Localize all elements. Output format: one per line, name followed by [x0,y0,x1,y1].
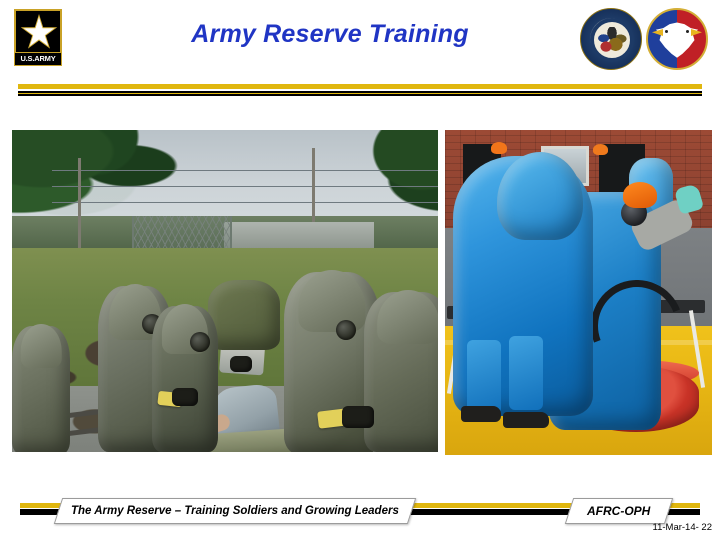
footer-tagline-banner: The Army Reserve – Training Soldiers and… [54,498,416,524]
orange-hard-hat [623,182,657,208]
power-line [52,202,438,203]
footer-organization-banner: AFRC-OPH [565,498,673,524]
eagle-eye-left [665,30,668,33]
mopp-hood [298,270,365,332]
seal-inner-disc [590,18,634,62]
protective-glove [342,406,374,428]
star-icon [23,17,55,49]
photo-hazmat-decontamination [445,130,712,455]
gas-mask-canister [336,320,356,340]
utility-pole [78,158,81,262]
rubber-boot [461,406,501,422]
hazmat-leg [509,336,543,410]
page-title: Army Reserve Training [120,20,540,49]
orange-hard-hat [593,144,608,155]
orange-hard-hat [491,142,507,154]
soldier-mopp-suit [12,326,70,452]
slide-footer: The Army Reserve – Training Soldiers and… [0,495,720,540]
us-army-star-logo: U.S.ARMY [14,9,62,77]
soldier-mopp-suit [364,292,438,452]
header-divider [0,84,720,98]
soldier-mopp-suit [152,306,218,452]
gas-mask-canister [190,332,210,352]
tree-canopy-right [338,130,438,218]
department-of-the-army-seal-icon [580,8,642,70]
footer-organization-text: AFRC-OPH [587,504,650,518]
power-line [52,170,438,171]
hazmat-leg [467,340,501,414]
power-line [52,186,438,187]
army-wordmark: U.S.ARMY [14,52,62,66]
footer-date-slide-number: 11-Mar-14- 22 [653,522,713,533]
soldier-mopp-suit [208,280,280,350]
footer-tagline-text: The Army Reserve – Training Soldiers and… [71,505,399,517]
eagle-eye-right [686,30,689,33]
mopp-hood [377,290,438,344]
mopp-hood [21,324,62,368]
rubber-boot [503,412,549,428]
seal-emblem [597,27,627,55]
photo-mopp-decontamination [12,130,438,452]
double-headed-eagle-icon [654,20,700,60]
background-building [224,222,374,248]
protective-glove [172,388,198,406]
protective-glove [230,356,252,372]
slide-header: U.S.ARMY Army Reserve Training [0,0,720,100]
header-seals [580,6,710,74]
army-reserve-eagle-insignia-icon [646,8,708,70]
tree-canopy-left [12,130,186,224]
divider-gold-pinstripe [18,93,702,95]
divider-gold-bar [18,84,702,89]
